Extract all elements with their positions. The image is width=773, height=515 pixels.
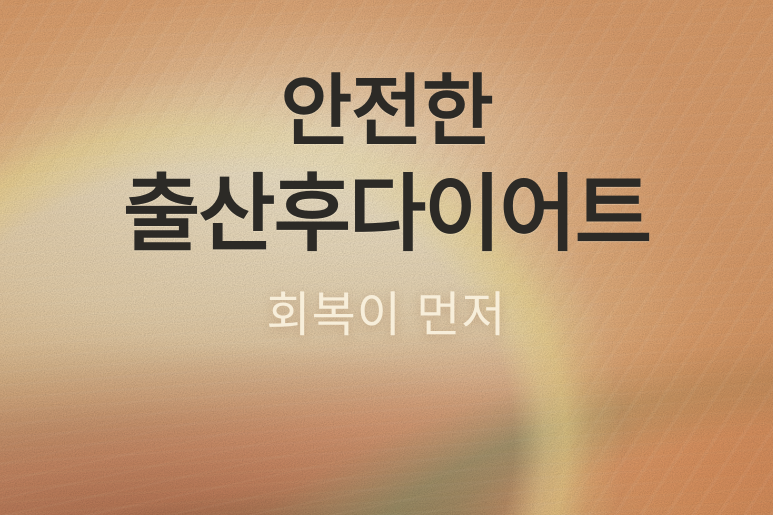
headline-line-2: 출산후다이어트 — [0, 172, 773, 256]
poster-text-content: 안전한 출산후다이어트 회복이 먼저 — [0, 0, 773, 515]
poster-canvas: 안전한 출산후다이어트 회복이 먼저 — [0, 0, 773, 515]
headline-line-1: 안전한 — [0, 72, 773, 150]
poster-subtitle: 회복이 먼저 — [0, 292, 773, 340]
